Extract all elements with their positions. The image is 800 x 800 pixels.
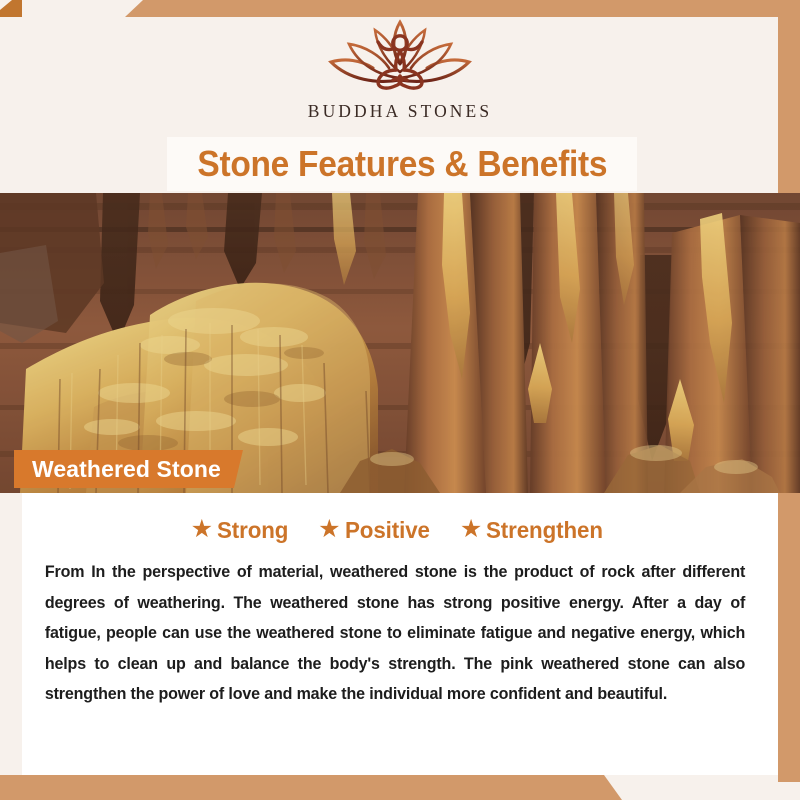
lotus-meditation-figure-icon <box>315 18 485 100</box>
title-band: Stone Features & Benefits <box>167 137 637 191</box>
brand-header: BUDDHA STONES <box>0 18 800 138</box>
status-badge: Weathered Stone <box>14 450 243 488</box>
brand-name: BUDDHA STONES <box>308 101 492 122</box>
keyword-strong: ★ Strong <box>191 517 293 544</box>
star-icon: ★ <box>191 517 213 542</box>
body-paragraph: From In the perspective of material, wea… <box>34 557 755 710</box>
stone-photo-illustration <box>0 193 800 493</box>
frame-band-bottom <box>0 775 800 800</box>
keyword-strengthen: ★ Strengthen <box>460 517 609 544</box>
poster-root: BUDDHA STONES Stone Features & Benefits <box>0 0 800 800</box>
page-title: Stone Features & Benefits <box>197 143 607 185</box>
content-panel: ★ Strong ★ Positive ★ Strengthen From In… <box>22 493 778 775</box>
keyword-positive: ★ Positive <box>318 517 434 544</box>
frame-band-top <box>0 0 800 17</box>
star-icon: ★ <box>318 517 340 542</box>
status-badge-label: Weathered Stone <box>32 456 221 483</box>
keyword-row: ★ Strong ★ Positive ★ Strengthen <box>34 517 766 544</box>
star-icon: ★ <box>460 517 482 542</box>
keyword-label: Strong <box>217 517 288 544</box>
keyword-label: Positive <box>345 517 430 544</box>
stone-photo <box>0 193 800 493</box>
keyword-label: Strengthen <box>486 517 603 544</box>
